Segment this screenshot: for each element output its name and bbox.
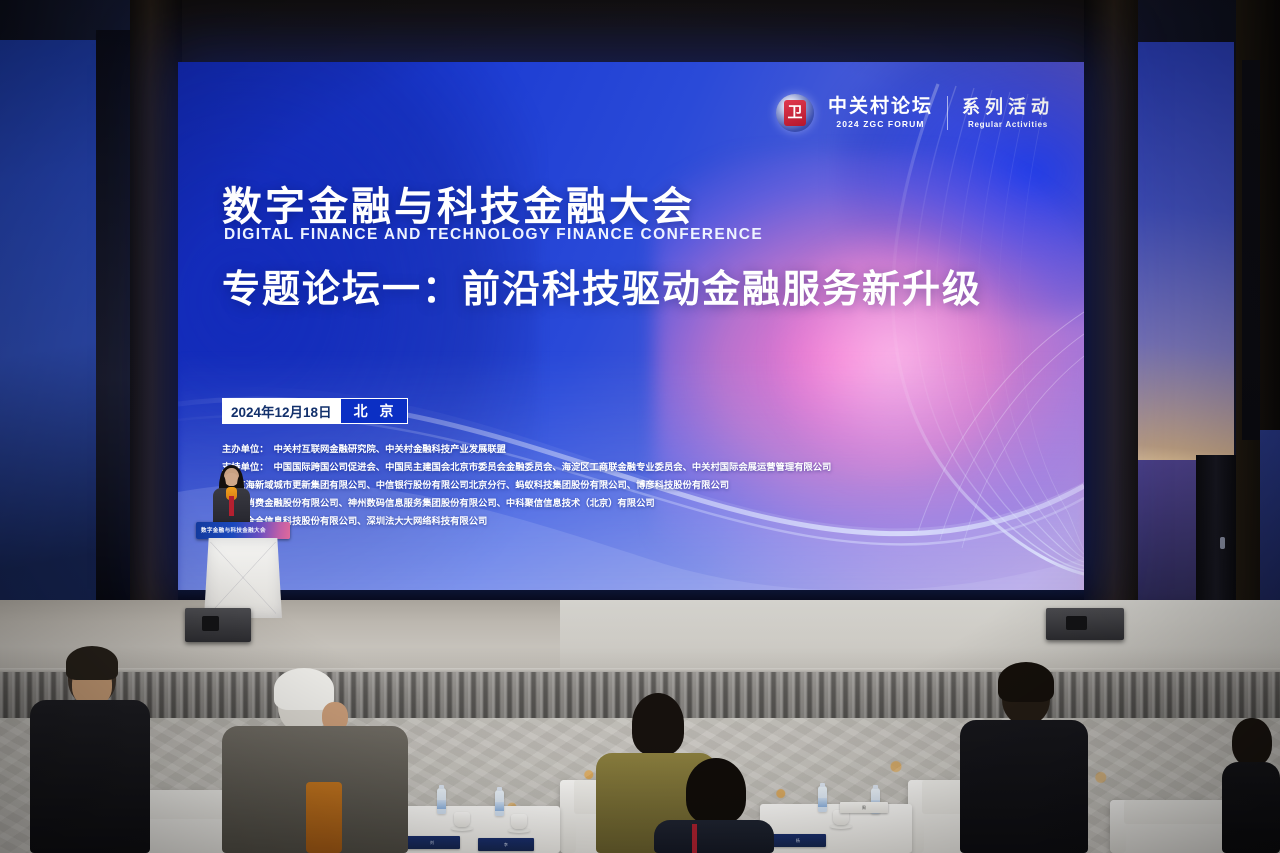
logo-divider [947,96,948,130]
audience-member [30,648,150,853]
forum-logo-text: 中关村论坛 2024 ZGC FORUM [828,97,933,129]
emblem-glyph: 卫 [784,100,806,126]
name-card: 李 [478,838,534,851]
far-right-dark [1242,60,1260,440]
forum-name-en: 2024 ZGC FORUM [836,120,924,129]
podium-banner-text: 数字金融与科技金融大会 [201,526,266,534]
podium-body [204,538,282,618]
right-pillar [1084,0,1138,640]
credit-line: 上海合合信息科技股份有限公司、深圳法大大网络科技有限公司 [222,512,1012,530]
name-card: 刘 [404,836,460,849]
left-wall [0,0,182,640]
organizer-credits: 主办单位：中关村互联网金融研究院、中关村金融科技产业发展联盟 支持单位：中国国际… [222,440,1012,530]
conference-title-en: DIGITAL FINANCE AND TECHNOLOGY FINANCE C… [224,226,763,244]
credit-line: 支持单位：中国国际跨国公司促进会、中国民主建国会北京市委员会金融委员会、海淀区工… [222,458,1012,476]
left-wall-dark-panel [96,30,130,610]
left-wall-lit-panel [0,40,96,600]
conference-hall-scene: 卫 中关村论坛 2024 ZGC FORUM 系列活动 Regular Acti… [0,0,1280,853]
audience-lanyard [692,824,697,853]
podium-banner: 数字金融与科技金融大会 [196,522,290,539]
water-bottle [495,790,504,816]
water-bottle [437,788,446,814]
right-wall [1084,0,1280,648]
audience-scarf [306,782,342,853]
forum-emblem-icon: 卫 [776,94,814,132]
audience-member [648,760,780,853]
audience-member [960,666,1088,853]
right-wall-lit-panel [1138,42,1234,462]
tea-cup [511,814,527,829]
water-bottle [818,786,827,812]
speaker-lanyard [229,496,234,516]
event-meta-badges: 2024年12月18日 北 京 [222,398,408,424]
conference-title-cn: 数字金融与科技金融大会 [222,174,695,232]
name-card: 周 [840,802,888,813]
event-city-badge: 北 京 [341,398,409,424]
left-pillar [130,0,182,632]
event-date-badge: 2024年12月18日 [222,398,341,424]
led-stage-screen: 卫 中关村论坛 2024 ZGC FORUM 系列活动 Regular Acti… [178,62,1084,592]
forum-sublogo-text: 系列活动 Regular Activities [962,98,1054,129]
audience-member [222,672,408,853]
audience-member [1222,718,1280,853]
stage-monitor-speaker [1046,608,1124,640]
podium: 数字金融与科技金融大会 [196,522,290,618]
forum-logo: 卫 中关村论坛 2024 ZGC FORUM 系列活动 Regular Acti… [776,94,1054,132]
speaker-person [206,468,256,530]
stage-sheen [560,600,1280,678]
forum-name-cn: 中关村论坛 [828,97,933,116]
series-label-cn: 系列活动 [962,98,1054,116]
tea-cup [454,812,470,827]
stage-monitor-speaker [185,608,251,642]
series-label-en: Regular Activities [968,121,1048,129]
credit-line: 北京海新域城市更新集团有限公司、中信银行股份有限公司北京分行、蚂蚁科技集团股份有… [222,476,1012,494]
credit-line: 马上消费金融股份有限公司、神州数码信息服务集团股份有限公司、中科聚信信息技术（北… [222,494,1012,512]
credit-line: 主办单位：中关村互联网金融研究院、中关村金融科技产业发展联盟 [222,440,1012,458]
forum-session-title: 专题论坛一：前沿科技驱动金融服务新升级 [222,258,982,313]
door-handle-icon [1220,537,1225,549]
